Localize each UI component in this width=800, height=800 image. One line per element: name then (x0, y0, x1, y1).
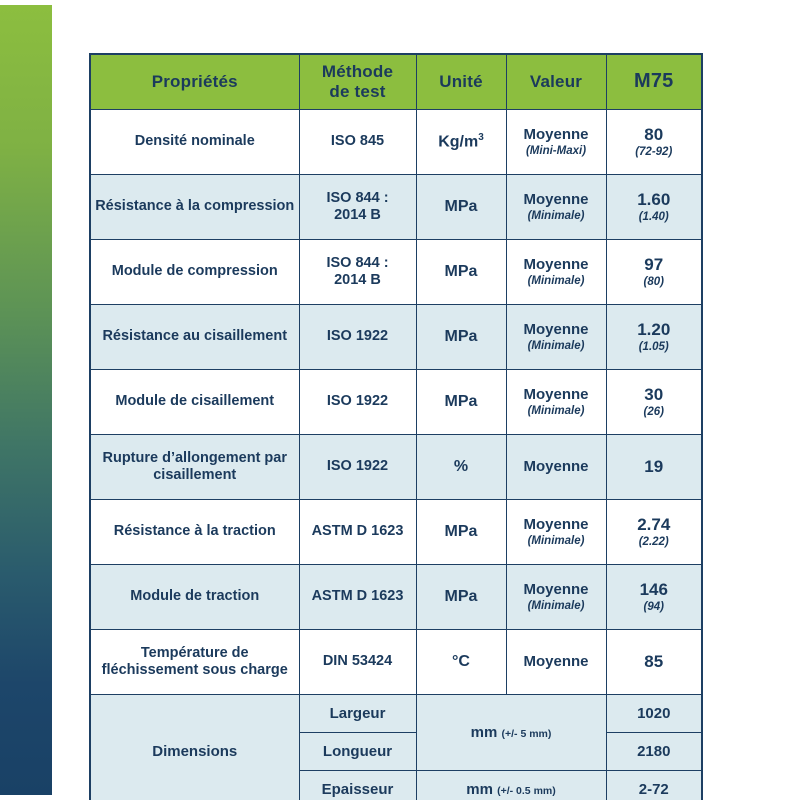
m75-sub: (26) (611, 406, 698, 420)
cell-method: ISO 844 : 2014 B (299, 240, 416, 305)
cell-m75: 19 (606, 435, 702, 500)
cell-value: Moyenne (Minimale) (506, 500, 606, 565)
page-root: Propriétés Méthode de test Unité Valeur … (0, 0, 800, 800)
table-row: Module de traction ASTM D 1623 MPa Moyen… (90, 565, 702, 630)
cell-dimension-value: 1020 (606, 695, 702, 733)
value-main: Moyenne (523, 653, 588, 670)
m75-main: 19 (644, 457, 663, 476)
value-main: Moyenne (523, 516, 588, 533)
method-line2: 2014 B (334, 272, 381, 288)
value-main: Moyenne (523, 458, 588, 475)
m75-main: 97 (644, 255, 663, 274)
cell-m75: 1.20 (1.05) (606, 305, 702, 370)
value-main: Moyenne (523, 126, 588, 143)
cell-m75: 1.60 (1.40) (606, 175, 702, 240)
dimension-unit-tolerance: (+/- 0.5 mm) (497, 785, 556, 797)
table-body: Densité nominale ISO 845 Kg/m3 Moyenne (… (90, 110, 702, 800)
header-row: Propriétés Méthode de test Unité Valeur … (90, 54, 702, 110)
cell-method: ISO 1922 (299, 370, 416, 435)
value-main: Moyenne (523, 321, 588, 338)
value-sub: (Minimale) (511, 275, 602, 289)
cell-unit: MPa (416, 565, 506, 630)
value-sub: (Minimale) (511, 340, 602, 354)
cell-unit: % (416, 435, 506, 500)
cell-unit: MPa (416, 370, 506, 435)
method-header-line2: de test (329, 82, 385, 101)
value-main: Moyenne (523, 256, 588, 273)
m75-main: 2.74 (637, 515, 670, 534)
cell-unit: Kg/m3 (416, 110, 506, 175)
cell-dimensions-label: Dimensions (90, 695, 299, 800)
cell-method: ASTM D 1623 (299, 500, 416, 565)
table-row: Résistance à la compression ISO 844 : 20… (90, 175, 702, 240)
table-header: Propriétés Méthode de test Unité Valeur … (90, 54, 702, 110)
cell-method: ISO 845 (299, 110, 416, 175)
cell-property: Module de traction (90, 565, 299, 630)
method-line2: 2014 B (334, 207, 381, 223)
cell-method: ISO 1922 (299, 305, 416, 370)
cell-property: Résistance au cisaillement (90, 305, 299, 370)
table-row: Résistance à la traction ASTM D 1623 MPa… (90, 500, 702, 565)
cell-method: ASTM D 1623 (299, 565, 416, 630)
cell-dimension-name: Longueur (299, 733, 416, 771)
cell-m75: 30 (26) (606, 370, 702, 435)
unit-superscript: 3 (478, 132, 484, 143)
method-line1: ISO 844 : (326, 255, 388, 271)
left-accent-gradient-bar (0, 5, 52, 795)
column-header-properties: Propriétés (90, 54, 299, 110)
cell-property: Module de cisaillement (90, 370, 299, 435)
table-row: Température de fléchissement sous charge… (90, 630, 702, 695)
cell-dimension-name: Epaisseur (299, 771, 416, 800)
value-sub: (Mini-Maxi) (511, 145, 602, 159)
cell-value: Moyenne (Mini-Maxi) (506, 110, 606, 175)
cell-unit: MPa (416, 305, 506, 370)
table-row: Module de cisaillement ISO 1922 MPa Moye… (90, 370, 702, 435)
cell-unit: °C (416, 630, 506, 695)
cell-method: ISO 844 : 2014 B (299, 175, 416, 240)
cell-property: Température de fléchissement sous charge (90, 630, 299, 695)
value-main: Moyenne (523, 386, 588, 403)
column-header-unit: Unité (416, 54, 506, 110)
value-sub: (Minimale) (511, 405, 602, 419)
m75-sub: (94) (611, 601, 698, 615)
cell-value: Moyenne (506, 630, 606, 695)
m75-sub: (1.40) (611, 211, 698, 225)
cell-property: Module de compression (90, 240, 299, 305)
value-sub: (Minimale) (511, 600, 602, 614)
m75-main: 146 (640, 580, 668, 599)
cell-property: Rupture d’allongement par cisaillement (90, 435, 299, 500)
method-header-line1: Méthode (322, 62, 393, 81)
column-header-m75: M75 (606, 54, 702, 110)
cell-m75: 85 (606, 630, 702, 695)
column-header-method: Méthode de test (299, 54, 416, 110)
table-row: Résistance au cisaillement ISO 1922 MPa … (90, 305, 702, 370)
m75-main: 85 (644, 652, 663, 671)
cell-value: Moyenne (Minimale) (506, 240, 606, 305)
cell-m75: 2.74 (2.22) (606, 500, 702, 565)
m75-sub: (1.05) (611, 341, 698, 355)
column-header-value: Valeur (506, 54, 606, 110)
m75-sub: (72-92) (611, 146, 698, 160)
specification-table-container: Propriétés Méthode de test Unité Valeur … (89, 53, 701, 800)
cell-dimension-value: 2-72 (606, 771, 702, 800)
cell-value: Moyenne (506, 435, 606, 500)
cell-method: ISO 1922 (299, 435, 416, 500)
table-row: Densité nominale ISO 845 Kg/m3 Moyenne (… (90, 110, 702, 175)
cell-dimension-unit-thickness: mm (+/- 0.5 mm) (416, 771, 606, 800)
cell-unit: MPa (416, 500, 506, 565)
cell-dimension-name: Largeur (299, 695, 416, 733)
cell-unit: MPa (416, 240, 506, 305)
method-line1: ISO 844 : (326, 190, 388, 206)
cell-dimension-value: 2180 (606, 733, 702, 771)
value-main: Moyenne (523, 191, 588, 208)
cell-property: Résistance à la traction (90, 500, 299, 565)
dimension-unit-tolerance: (+/- 5 mm) (501, 728, 551, 740)
dimension-unit-text: mm (471, 724, 498, 741)
cell-m75: 146 (94) (606, 565, 702, 630)
table-row: Rupture d’allongement par cisaillement I… (90, 435, 702, 500)
value-sub: (Minimale) (511, 210, 602, 224)
cell-unit: MPa (416, 175, 506, 240)
m75-sub: (80) (611, 276, 698, 290)
dimension-unit-text: mm (466, 781, 493, 798)
cell-m75: 97 (80) (606, 240, 702, 305)
cell-property: Résistance à la compression (90, 175, 299, 240)
cell-value: Moyenne (Minimale) (506, 305, 606, 370)
m75-main: 30 (644, 385, 663, 404)
cell-value: Moyenne (Minimale) (506, 175, 606, 240)
m75-main: 1.60 (637, 190, 670, 209)
cell-dimension-unit-width-length: mm (+/- 5 mm) (416, 695, 606, 771)
value-sub: (Minimale) (511, 535, 602, 549)
cell-value: Moyenne (Minimale) (506, 565, 606, 630)
specification-table: Propriétés Méthode de test Unité Valeur … (89, 53, 703, 800)
cell-method: DIN 53424 (299, 630, 416, 695)
m75-sub: (2.22) (611, 536, 698, 550)
cell-m75: 80 (72-92) (606, 110, 702, 175)
cell-value: Moyenne (Minimale) (506, 370, 606, 435)
unit-text: Kg/m (438, 133, 478, 150)
table-row-dimensions-largeur: Dimensions Largeur mm (+/- 5 mm) 1020 (90, 695, 702, 733)
cell-property: Densité nominale (90, 110, 299, 175)
m75-main: 80 (644, 125, 663, 144)
value-main: Moyenne (523, 581, 588, 598)
table-row: Module de compression ISO 844 : 2014 B M… (90, 240, 702, 305)
m75-main: 1.20 (637, 320, 670, 339)
